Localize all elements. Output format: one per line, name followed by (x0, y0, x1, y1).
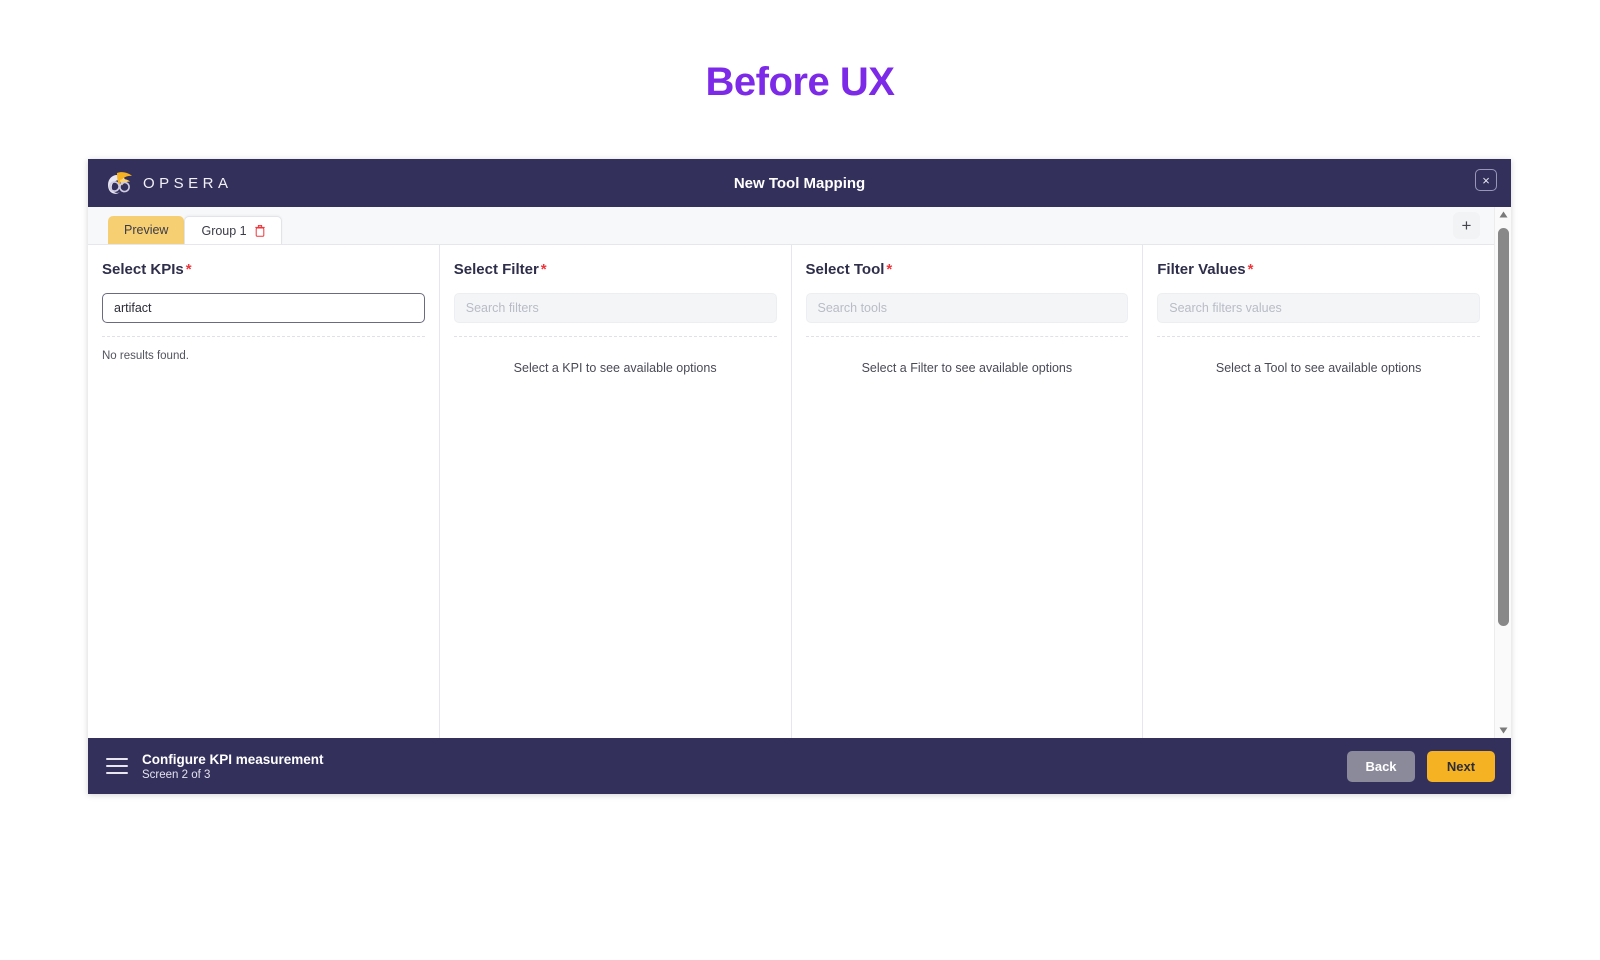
column-select-filter: Select Filter* Select a KPI to see avail… (439, 245, 791, 738)
tab-preview-label: Preview (124, 223, 168, 237)
close-icon[interactable]: × (1475, 169, 1497, 191)
opsera-bird-icon (106, 170, 136, 196)
modal-body: Preview Group 1 + Sel (88, 207, 1511, 738)
tab-strip: Preview Group 1 + (88, 207, 1494, 244)
filter-values-results-box: Select a Tool to see available options (1157, 337, 1480, 738)
filter-values-search-input[interactable] (1157, 293, 1480, 323)
column-title-select-kpis: Select KPIs* (102, 261, 425, 278)
trash-icon[interactable] (255, 225, 265, 237)
filter-search-input[interactable] (454, 293, 777, 323)
scroll-down-icon[interactable] (1495, 723, 1512, 738)
tool-results-box: Select a Filter to see available options (806, 337, 1129, 738)
page-title: Before UX (0, 60, 1600, 105)
filter-values-hint-text: Select a Tool to see available options (1157, 350, 1480, 375)
scroll-up-icon[interactable] (1495, 207, 1512, 222)
column-title-text: Filter Values (1157, 261, 1245, 278)
tab-group-1[interactable]: Group 1 (184, 216, 281, 244)
new-tool-mapping-modal: OPSERA New Tool Mapping × Preview Group … (88, 159, 1511, 794)
hamburger-menu-icon[interactable] (106, 758, 128, 774)
tool-search-input[interactable] (806, 293, 1129, 323)
next-button[interactable]: Next (1427, 751, 1495, 782)
column-title-text: Select KPIs (102, 261, 184, 278)
kpi-no-results-text: No results found. (102, 350, 425, 362)
add-group-button[interactable]: + (1453, 212, 1480, 239)
modal-title: New Tool Mapping (88, 175, 1511, 192)
modal-footer: Configure KPI measurement Screen 2 of 3 … (88, 738, 1511, 794)
column-title-text: Select Filter (454, 261, 539, 278)
column-title-filter-values: Filter Values* (1157, 261, 1480, 278)
scrollbar-thumb[interactable] (1498, 228, 1509, 626)
brand-logo: OPSERA (106, 170, 233, 196)
kpi-search-input[interactable] (102, 293, 425, 323)
brand-name: OPSERA (143, 175, 233, 192)
footer-step-title: Configure KPI measurement (142, 752, 324, 767)
column-filter-values: Filter Values* Select a Tool to see avai… (1142, 245, 1494, 738)
filter-results-box: Select a KPI to see available options (454, 337, 777, 738)
mapping-columns-panel: Select KPIs* No results found. Select Fi… (88, 244, 1494, 738)
required-marker: * (541, 261, 547, 278)
required-marker: * (186, 261, 192, 278)
column-select-tool: Select Tool* Select a Filter to see avai… (791, 245, 1143, 738)
column-title-select-tool: Select Tool* (806, 261, 1129, 278)
column-select-kpis: Select KPIs* No results found. (88, 245, 439, 738)
column-title-text: Select Tool (806, 261, 885, 278)
modal-header: OPSERA New Tool Mapping × (88, 159, 1511, 207)
footer-step-info: Configure KPI measurement Screen 2 of 3 (142, 752, 324, 781)
scrollbar-track[interactable] (1495, 222, 1511, 723)
back-button[interactable]: Back (1347, 751, 1415, 782)
tab-preview[interactable]: Preview (108, 216, 184, 244)
footer-step-subtitle: Screen 2 of 3 (142, 769, 324, 781)
required-marker: * (886, 261, 892, 278)
kpi-results-box: No results found. (102, 337, 425, 738)
column-title-select-filter: Select Filter* (454, 261, 777, 278)
tool-hint-text: Select a Filter to see available options (806, 350, 1129, 375)
required-marker: * (1248, 261, 1254, 278)
vertical-scrollbar[interactable] (1494, 207, 1511, 738)
tab-group-1-label: Group 1 (201, 224, 246, 238)
modal-body-inner: Preview Group 1 + Sel (88, 207, 1494, 738)
filter-hint-text: Select a KPI to see available options (454, 350, 777, 375)
